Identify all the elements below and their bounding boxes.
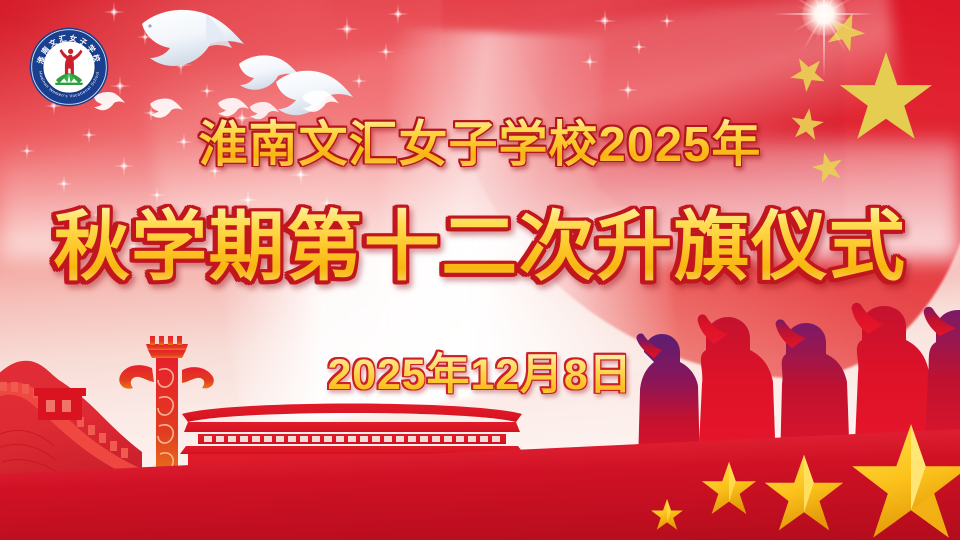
flag-raising-ceremony-poster: 淮南文汇女子学校 Huainan Women's Vocational Scho… [0, 0, 960, 540]
date-line: 2025年12月8日 [0, 349, 960, 401]
title-line-1: 淮南文汇女子学校2025年 [0, 116, 960, 174]
school-logo[interactable]: 淮南文汇女子学校 Huainan Women's Vocational Scho… [28, 26, 110, 108]
title-line-2: 秋学期第十二次升旗仪式 [0, 202, 960, 294]
